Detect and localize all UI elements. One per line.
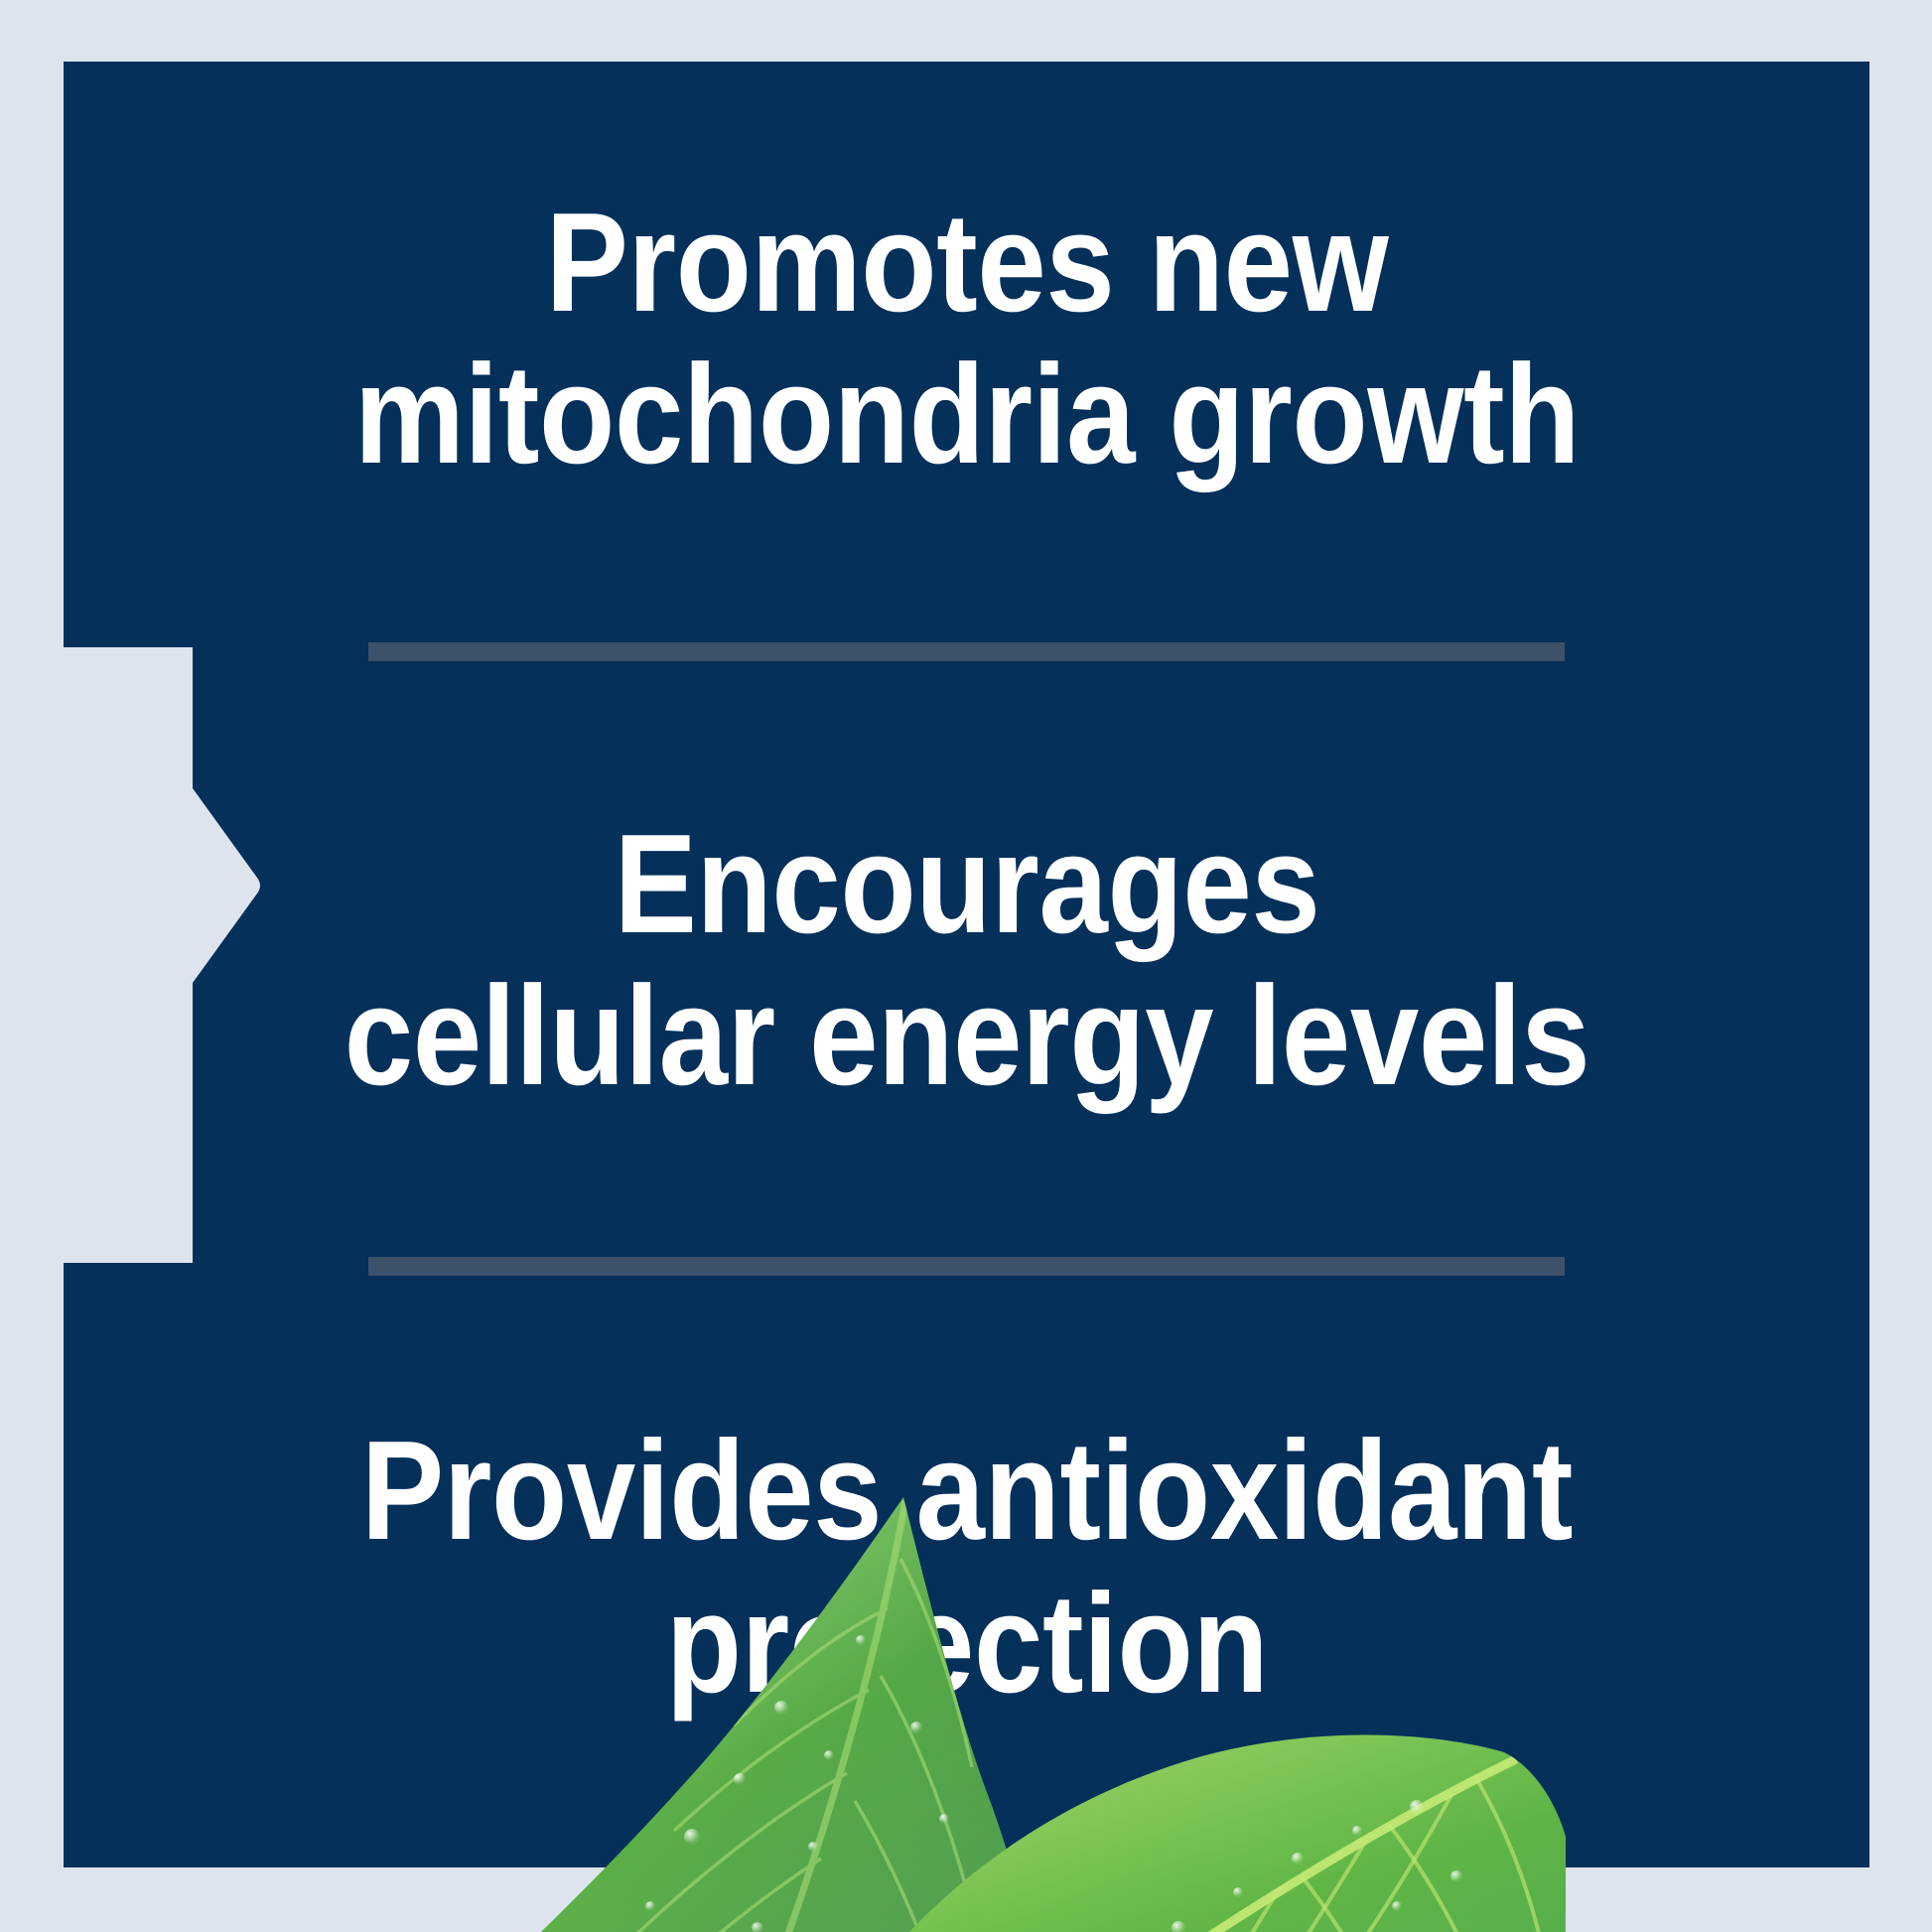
benefits-panel: Promotes new mitochondria growth Encoura… xyxy=(64,62,1869,1867)
benefit-text: Encourages cellular energy levels xyxy=(285,808,1648,1113)
benefit-item-antioxidant: Provides antioxidant protection xyxy=(193,1415,1741,1720)
product-benefits-card: Promotes new mitochondria growth Encoura… xyxy=(0,0,1932,1932)
benefit-divider-2 xyxy=(368,1257,1565,1276)
benefits-list: Promotes new mitochondria growth Encoura… xyxy=(64,62,1869,1720)
benefit-item-energy: Encourages cellular energy levels xyxy=(193,808,1741,1113)
benefit-text: Provides antioxidant protection xyxy=(285,1415,1648,1720)
benefit-divider-1 xyxy=(368,642,1565,661)
benefit-item-mitochondria: Promotes new mitochondria growth xyxy=(193,181,1741,491)
benefit-text: Promotes new mitochondria growth xyxy=(285,181,1648,491)
